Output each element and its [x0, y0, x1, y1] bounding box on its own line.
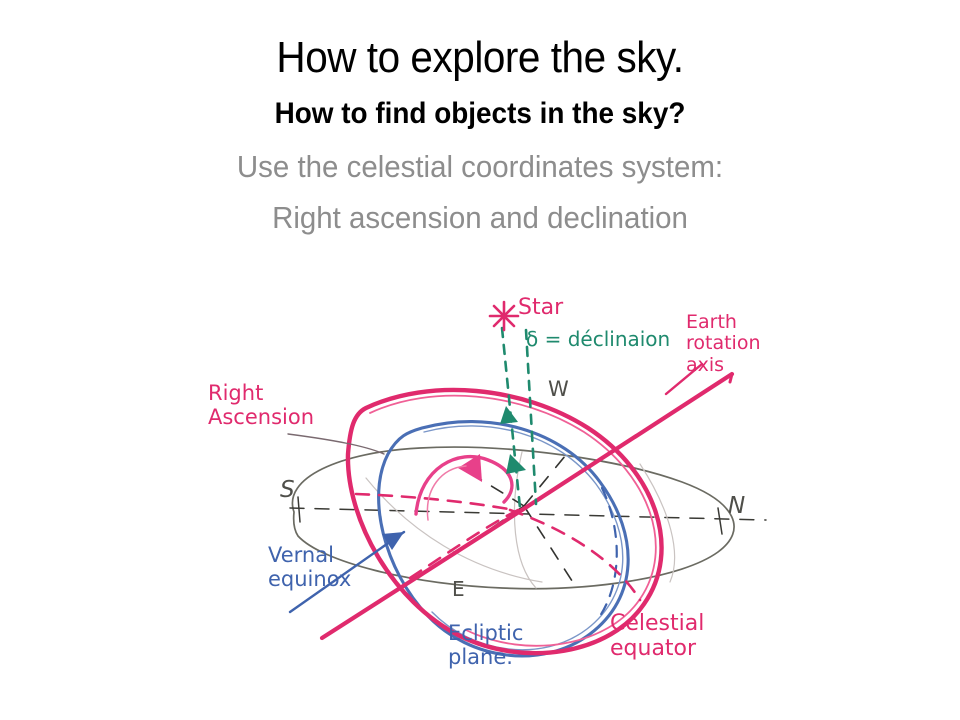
subtitle-system: Use the celestial coordinates system: [24, 151, 936, 182]
right-ascension-pointer [288, 434, 384, 454]
subtitle-coordinates: Right ascension and declination [24, 202, 936, 233]
label-star: Star [518, 296, 563, 321]
subtitle-question: How to find objects in the sky? [34, 99, 927, 129]
label-earth-rotation-axis: Earth rotation axis [686, 312, 761, 376]
label-declination: δ = déclinaion [526, 328, 670, 350]
slide-canvas: How to explore the sky. How to find obje… [0, 0, 960, 720]
label-cardinal-east: E [452, 578, 465, 600]
label-cardinal-north: N [728, 494, 745, 520]
label-cardinal-south: S [280, 478, 295, 504]
label-right-ascension: Right Ascension [208, 382, 314, 429]
label-cardinal-west: W [548, 378, 569, 402]
celestial-coordinates-diagram: Star δ = déclinaion Earth rotation axis … [170, 282, 810, 702]
page-title: How to explore the sky. [38, 36, 921, 80]
label-vernal-equinox: Vernal equinox [268, 544, 351, 591]
declination-arrowhead [500, 406, 526, 474]
star-marker [490, 302, 518, 330]
title-block: How to explore the sky. How to find obje… [0, 0, 960, 233]
label-celestial-equator: Celestial equator [610, 612, 704, 661]
earth-rotation-axis [322, 374, 732, 638]
label-ecliptic-plane: Ecliptic plane. [448, 622, 523, 669]
